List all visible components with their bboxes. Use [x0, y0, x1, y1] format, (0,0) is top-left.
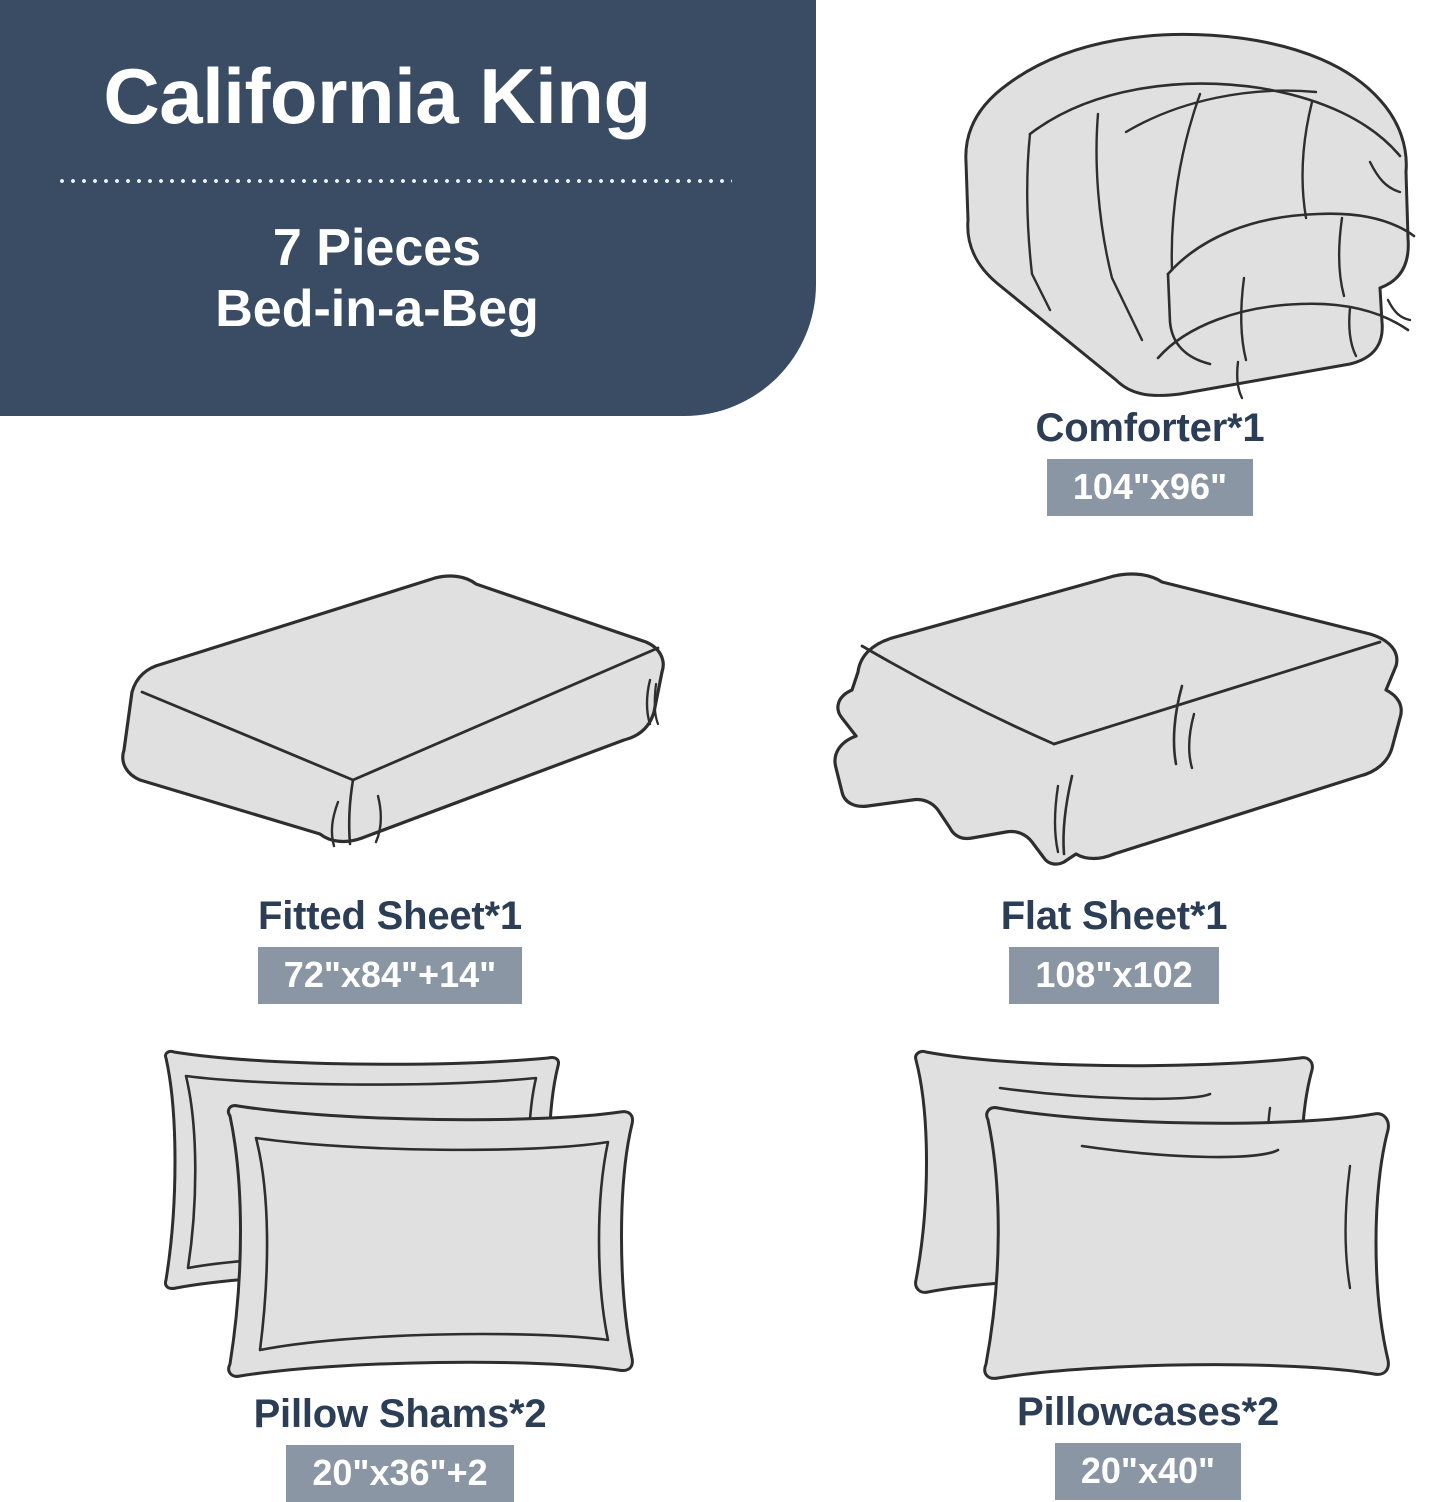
dotted-divider	[60, 178, 732, 184]
item-label-fitted-sheet: Fitted Sheet*1	[258, 894, 522, 938]
item-label-flat-sheet: Flat Sheet*1	[1001, 894, 1228, 938]
fitted-sheet-icon	[110, 572, 670, 852]
header-subtitle-line-1: 7 Pieces	[0, 218, 754, 279]
item-label-pillow-shams: Pillow Shams*2	[254, 1392, 547, 1436]
item-comforter: Comforter*1 104"x96"	[862, 22, 1438, 516]
item-dimensions-comforter: 104"x96"	[1047, 459, 1253, 516]
item-pillow-shams: Pillow Shams*2 20"x36"+2	[88, 1040, 712, 1502]
header-panel: California King 7 Pieces Bed-in-a-Beg	[0, 0, 816, 416]
item-label-pillowcases: Pillowcases*2	[1017, 1390, 1279, 1434]
item-fitted-sheet: Fitted Sheet*1 72"x84"+14"	[60, 572, 720, 1004]
flat-sheet-icon	[814, 572, 1414, 872]
page-title: California King	[0, 56, 816, 138]
item-label-comforter: Comforter*1	[1036, 406, 1265, 450]
item-dimensions-flat-sheet: 108"x102	[1009, 947, 1218, 1004]
item-dimensions-fitted-sheet: 72"x84"+14"	[258, 947, 522, 1004]
pillowcases-icon	[888, 1040, 1408, 1380]
folded-comforter-icon	[880, 22, 1420, 402]
header-subtitle-line-2: Bed-in-a-Beg	[0, 279, 754, 340]
item-pillowcases: Pillowcases*2 20"x40"	[838, 1040, 1438, 1500]
item-flat-sheet: Flat Sheet*1 108"x102	[790, 572, 1438, 1004]
item-dimensions-pillow-shams: 20"x36"+2	[286, 1445, 513, 1502]
header-subtitle: 7 Pieces Bed-in-a-Beg	[0, 218, 816, 341]
item-dimensions-pillowcases: 20"x40"	[1055, 1443, 1241, 1500]
pillow-shams-icon	[140, 1040, 660, 1380]
